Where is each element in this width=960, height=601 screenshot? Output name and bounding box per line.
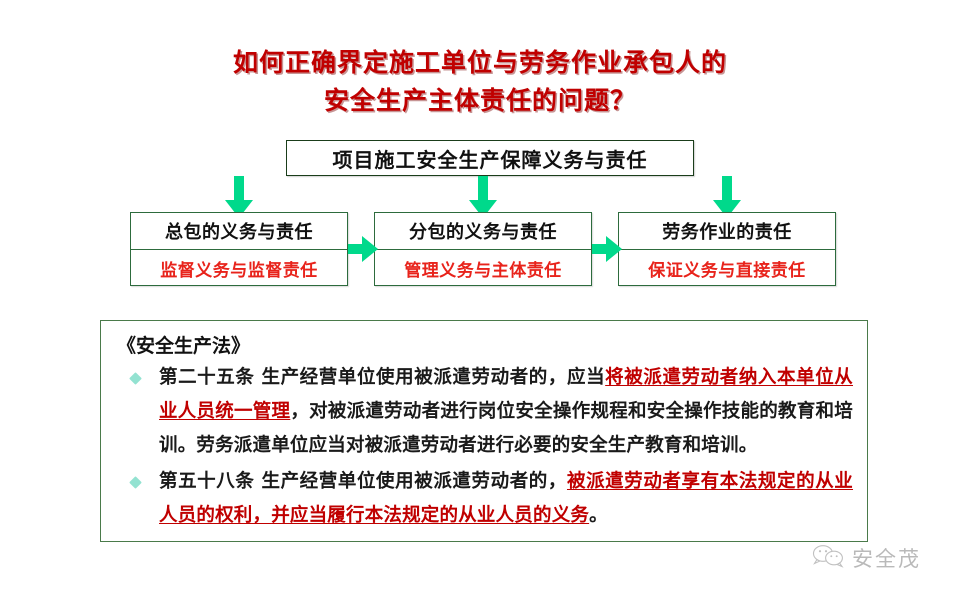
node-title: 劳务作业的责任: [662, 218, 792, 244]
node-title: 分包的义务与责任: [409, 218, 557, 244]
law-seg-plain: 第五十八条 生产经营单位使用被派遣劳动者的，: [159, 471, 567, 492]
flowchart-root-label: 项目施工安全生产保障义务与责任: [333, 144, 648, 173]
wechat-icon: [812, 544, 846, 572]
watermark-label: 安全茂: [852, 543, 921, 573]
bullet-diamond-icon: [129, 476, 142, 489]
node-subtitle: 保证义务与直接责任: [648, 256, 806, 281]
law-reference-panel: 《安全生产法》 第二十五条 生产经营单位使用被派遣劳动者的，应当将被派遣劳动者纳…: [100, 320, 868, 542]
arrow-right-icon: [348, 236, 376, 262]
law-seg-plain: 第二十五条 生产经营单位使用被派遣劳动者的，应当: [159, 367, 605, 388]
list-item: 第五十八条 生产经营单位使用被派遣劳动者的，被派遣劳动者享有本法规定的从业人员的…: [117, 465, 853, 533]
node-subtitle: 管理义务与主体责任: [404, 256, 562, 281]
arrow-right-icon: [592, 236, 620, 262]
flowchart-node-labor-service: 劳务作业的责任 保证义务与直接责任: [618, 212, 836, 286]
page-title-line-2: 安全生产主体责任的问题？: [0, 82, 960, 120]
law-seg-plain: 。: [589, 505, 608, 526]
list-item: 第二十五条 生产经营单位使用被派遣劳动者的，应当将被派遣劳动者纳入本单位从业人员…: [117, 361, 853, 463]
watermark: 安全茂: [812, 543, 921, 573]
node-title: 总包的义务与责任: [165, 218, 313, 244]
page-title: 如何正确界定施工单位与劳务作业承包人的 安全生产主体责任的问题？: [0, 44, 960, 120]
flowchart-node-subcontractor: 分包的义务与责任 管理义务与主体责任: [374, 212, 592, 286]
bullet-diamond-icon: [129, 372, 142, 385]
flowchart-root-box: 项目施工安全生产保障义务与责任: [286, 140, 694, 176]
arrow-down-icon: [469, 176, 497, 218]
law-panel-heading: 《安全生产法》: [117, 333, 853, 359]
page-title-line-1: 如何正确界定施工单位与劳务作业承包人的: [0, 44, 960, 82]
law-article-text: 第二十五条 生产经营单位使用被派遣劳动者的，应当将被派遣劳动者纳入本单位从业人员…: [159, 361, 853, 463]
arrow-down-icon: [225, 176, 253, 218]
flowchart-node-general-contractor: 总包的义务与责任 监督义务与监督责任: [130, 212, 348, 286]
law-article-text: 第五十八条 生产经营单位使用被派遣劳动者的，被派遣劳动者享有本法规定的从业人员的…: [159, 465, 853, 533]
arrow-down-icon: [713, 176, 741, 218]
node-subtitle: 监督义务与监督责任: [160, 256, 318, 281]
